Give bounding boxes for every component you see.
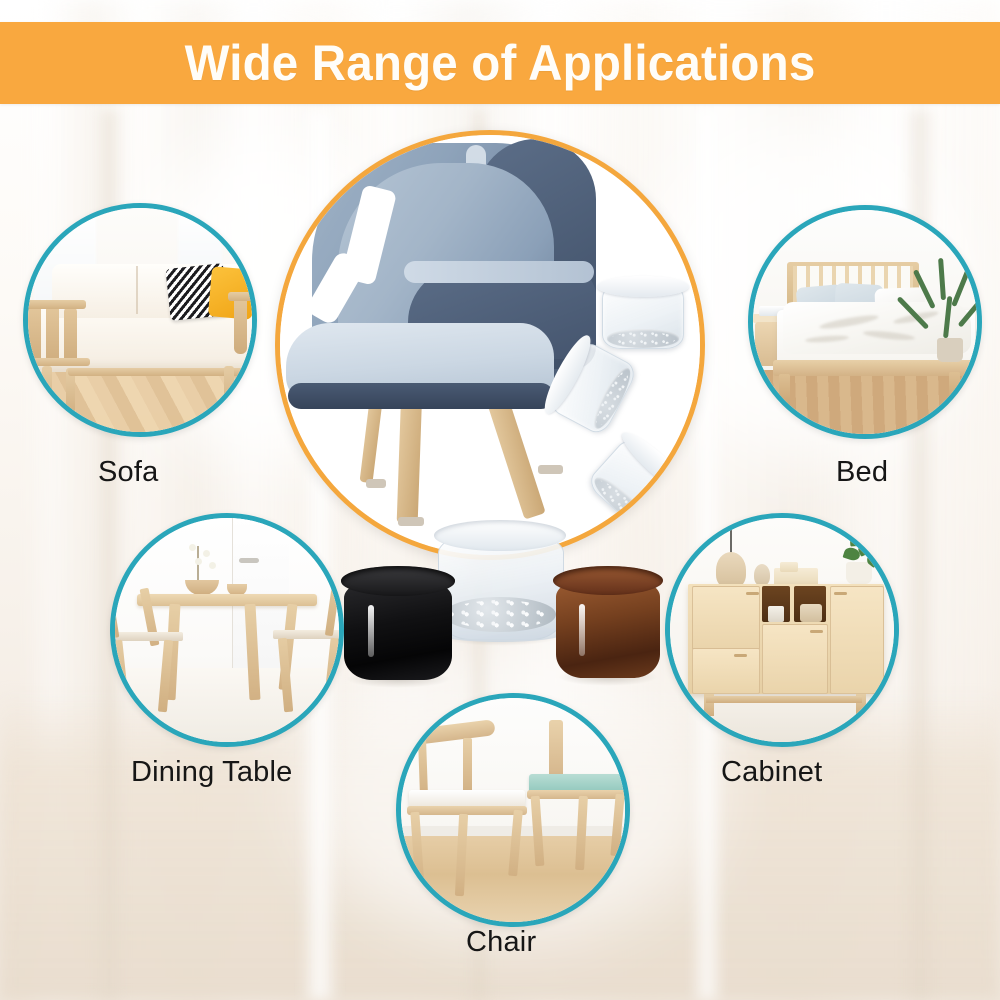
application-label-sofa: Sofa xyxy=(98,458,158,487)
application-circle-sofa xyxy=(23,203,257,437)
page-title: Wide Range of Applications xyxy=(185,38,816,88)
application-circle-cabinet xyxy=(665,513,899,747)
application-label-dining-table: Dining Table xyxy=(131,758,292,787)
application-label-chair: Chair xyxy=(466,928,536,957)
scene-chair xyxy=(401,698,625,922)
application-label-cabinet: Cabinet xyxy=(721,758,822,787)
floating-cap-upright xyxy=(602,279,684,349)
scene-bed xyxy=(753,210,977,434)
product-cap-brown xyxy=(556,566,660,678)
application-circle-bed xyxy=(748,205,982,439)
scene-cabinet xyxy=(670,518,894,742)
scene-sofa xyxy=(28,208,252,432)
application-label-bed: Bed xyxy=(836,458,888,487)
product-infographic: Wide Range of Applications Sofa xyxy=(0,0,1000,1000)
product-cap-black xyxy=(344,566,452,680)
hero-product-circle xyxy=(275,130,705,560)
scene-hero-chair xyxy=(280,135,700,555)
application-circle-chair xyxy=(396,693,630,927)
header-banner: Wide Range of Applications xyxy=(0,22,1000,104)
product-cap-clear xyxy=(438,520,562,638)
